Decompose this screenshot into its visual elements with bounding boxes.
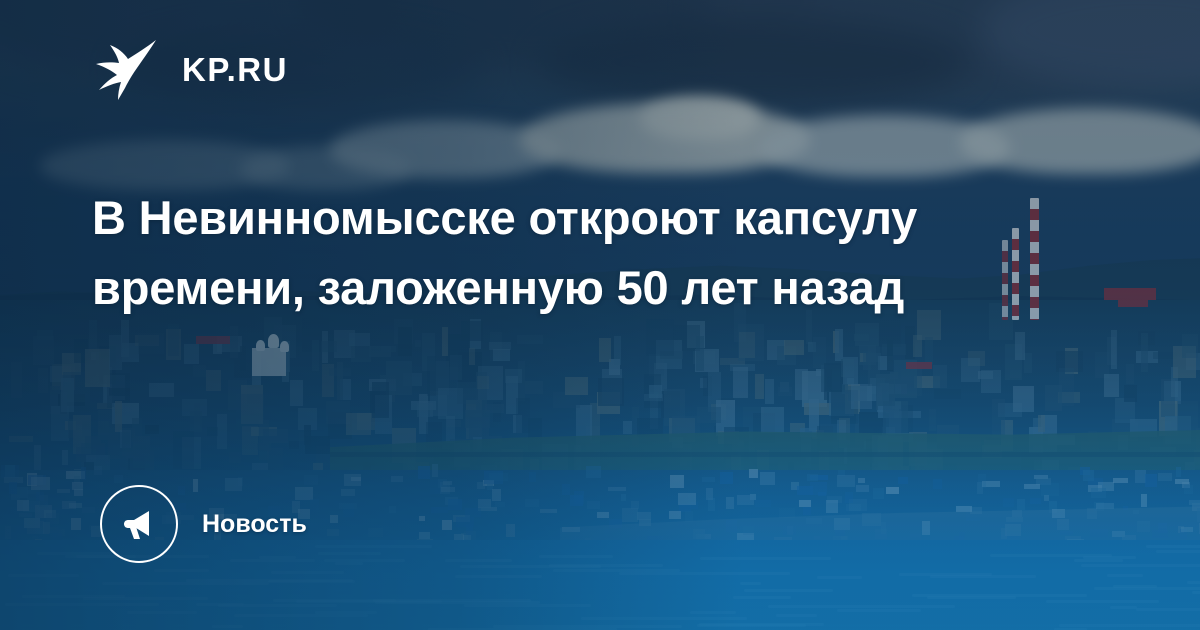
megaphone-icon [119,504,159,544]
card-content: KP.RU В Невинномысске откроют капсулу вр… [0,0,1200,630]
status-badge[interactable]: Новость [100,485,307,563]
brand-logo[interactable]: KP.RU [92,38,288,100]
badge-circle [100,485,178,563]
page-title: В Невинномысске откроют капсулу времени,… [92,183,1092,323]
badge-label: Новость [202,510,307,539]
news-share-card: KP.RU В Невинномысске откроют капсулу вр… [0,0,1200,630]
swallow-bird-icon [92,38,164,100]
brand-name: KP.RU [182,53,288,86]
